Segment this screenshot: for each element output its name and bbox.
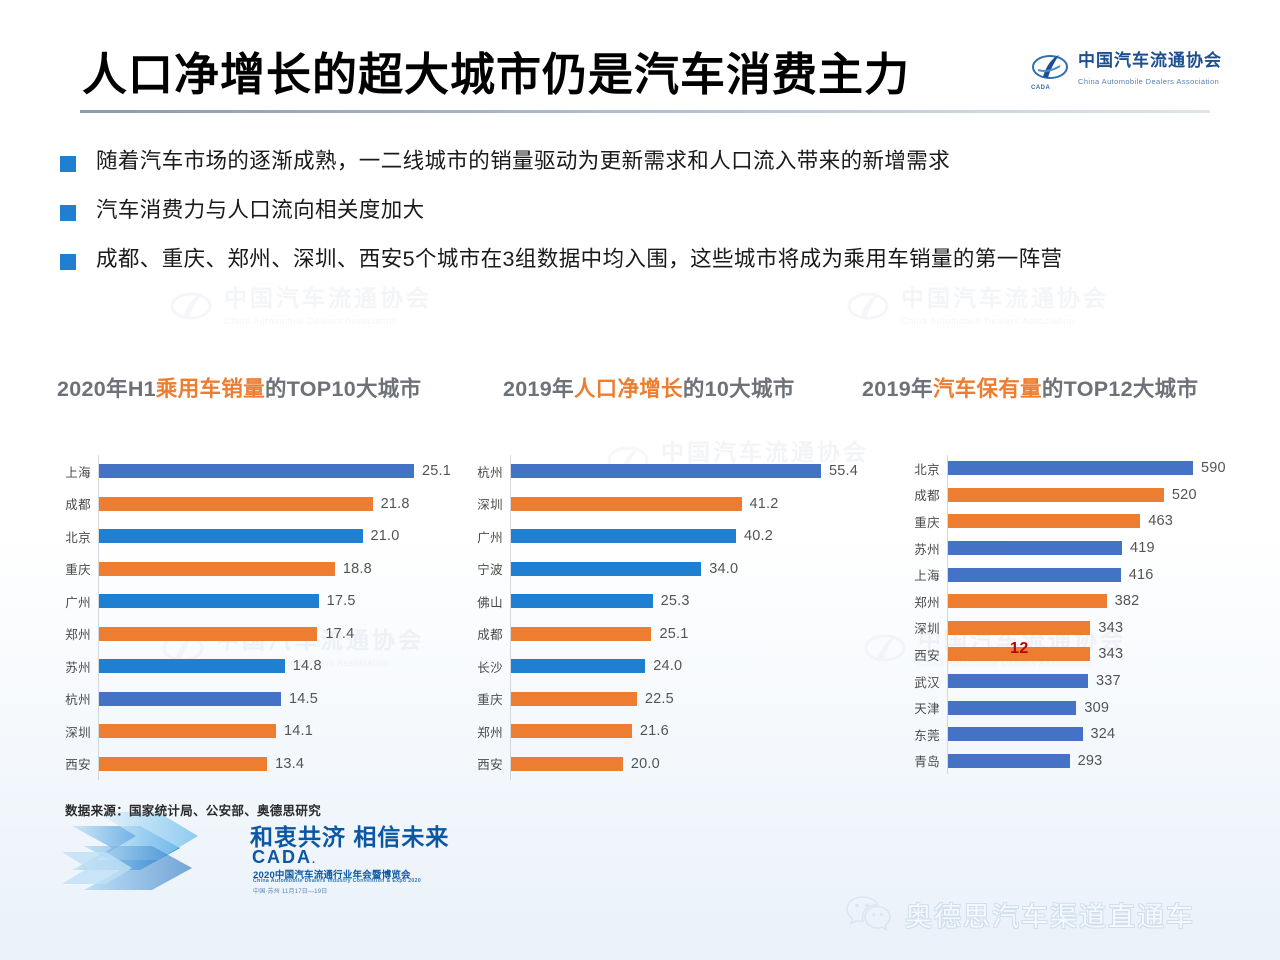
bar-row: 广州40.2 (466, 520, 866, 553)
bar-track: 324 (947, 721, 1245, 748)
bar-chart-passenger-car-sales: 上海25.1成都21.8北京21.0重庆18.8广州17.5郑州17.4苏州14… (50, 455, 480, 785)
bar-value-label: 13.4 (275, 756, 304, 772)
bar-category-label: 郑州 (50, 624, 98, 643)
bar-track: 343 (947, 641, 1245, 668)
bar-value-label: 17.5 (327, 593, 356, 609)
bar-track: 463 (947, 508, 1245, 535)
bar-track: 309 (947, 694, 1245, 721)
bar-row: 东莞324 (905, 721, 1245, 748)
bar-row: 宁波34.0 (466, 553, 866, 586)
bar-category-label: 天津 (905, 698, 947, 717)
bar-track: 343 (947, 615, 1245, 642)
chart-title-highlight: 人口净增长 (574, 377, 683, 401)
bar-value-label: 14.8 (293, 658, 322, 674)
bar-value-label: 337 (1096, 673, 1121, 689)
bar-value-label: 14.5 (289, 691, 318, 707)
bar-value-label: 25.1 (422, 463, 451, 479)
bar-row: 上海416 (905, 561, 1245, 588)
bullet-item-1: 随着汽车市场的逐渐成熟，一二线城市的销量驱动为更新需求和人口流入带来的新增需求 (60, 148, 1240, 175)
bar-row: 深圳343 (905, 615, 1245, 642)
bar-fill (511, 594, 653, 608)
bar-track: 382 (947, 588, 1245, 615)
bar-chart-vehicle-ownership: 北京590成都520重庆463苏州419上海416郑州382深圳343西安343… (905, 455, 1245, 785)
bar-value-label: 14.1 (284, 723, 313, 739)
bar-value-label: 590 (1201, 460, 1226, 476)
bar-row: 广州17.5 (50, 585, 480, 618)
chart-title-pre: 2019年 (503, 377, 574, 401)
bar-row: 天津309 (905, 694, 1245, 721)
bar-fill (99, 594, 319, 608)
bar-row: 重庆18.8 (50, 553, 480, 586)
bar-fill (948, 488, 1164, 502)
chart-title-pre: 2020年H1 (57, 377, 156, 401)
bar-fill (948, 568, 1121, 582)
chart-title-sales: 2020年H1乘用车销量的TOP10大城市 (57, 372, 421, 403)
bar-fill (948, 701, 1076, 715)
bar-track: 25.1 (510, 618, 866, 651)
bar-fill (99, 757, 267, 771)
bar-fill (511, 464, 821, 478)
bar-category-label: 成都 (905, 485, 947, 504)
bar-row: 杭州14.5 (50, 683, 480, 716)
bar-category-label: 重庆 (466, 689, 510, 708)
bar-track: 25.1 (98, 455, 480, 488)
bar-track: 21.6 (510, 715, 866, 748)
bar-row: 深圳14.1 (50, 715, 480, 748)
bar-rows: 杭州55.4深圳41.2广州40.2宁波34.0佛山25.3成都25.1长沙24… (466, 455, 866, 785)
bar-value-label: 40.2 (744, 528, 773, 544)
bar-value-label: 324 (1091, 726, 1116, 742)
title-underline-rule (80, 110, 1210, 113)
bar-fill (511, 692, 637, 706)
bar-category-label: 郑州 (466, 722, 510, 741)
chart-annotation-12: 12 (1010, 640, 1029, 658)
bar-row: 北京590 (905, 455, 1245, 482)
bar-track: 14.8 (98, 650, 480, 683)
bar-row: 成都520 (905, 482, 1245, 509)
bar-fill (99, 692, 281, 706)
bar-track: 416 (947, 561, 1245, 588)
square-bullet-icon (60, 156, 76, 172)
bullet-list: 随着汽车市场的逐渐成熟，一二线城市的销量驱动为更新需求和人口流入带来的新增需求 … (60, 148, 1240, 295)
bar-category-label: 青岛 (905, 751, 947, 770)
bar-category-label: 深圳 (50, 722, 98, 741)
bar-fill (948, 621, 1090, 635)
bar-value-label: 419 (1130, 540, 1155, 556)
bar-category-label: 东莞 (905, 725, 947, 744)
bar-fill (99, 627, 317, 641)
bar-track: 22.5 (510, 683, 866, 716)
bar-value-label: 21.6 (640, 723, 669, 739)
bar-track: 13.4 (98, 748, 480, 781)
bar-row: 青岛293 (905, 748, 1245, 775)
bar-track: 590 (947, 455, 1245, 482)
bar-row: 上海25.1 (50, 455, 480, 488)
bar-category-label: 上海 (905, 565, 947, 584)
bar-track: 25.3 (510, 585, 866, 618)
bar-fill (511, 529, 736, 543)
bar-fill (511, 757, 623, 771)
bar-row: 重庆22.5 (466, 683, 866, 716)
bar-category-label: 广州 (466, 527, 510, 546)
bar-fill (99, 724, 276, 738)
bar-value-label: 309 (1084, 700, 1109, 716)
wechat-account-name: 奥德思汽车渠道直通车 (905, 895, 1195, 934)
bullet-item-2: 汽车消费力与人口流向相关度加大 (60, 197, 1240, 224)
bar-track: 337 (947, 668, 1245, 695)
bar-value-label: 463 (1148, 513, 1173, 529)
bullet-text-1: 随着汽车市场的逐渐成熟，一二线城市的销量驱动为更新需求和人口流入带来的新增需求 (96, 148, 950, 175)
bar-value-label: 22.5 (645, 691, 674, 707)
brand-logo-text: 中国汽车流通协会 China Automobile Dealers Associ… (1078, 52, 1222, 89)
bar-fill (511, 659, 645, 673)
bar-track: 21.8 (98, 488, 480, 521)
chart-title-highlight: 汽车保有量 (933, 377, 1042, 401)
bar-category-label: 广州 (50, 592, 98, 611)
chart-title-post: 的10大城市 (683, 377, 795, 401)
bar-track: 520 (947, 482, 1245, 509)
event-place-date: 中国·苏州 11月17日—19日 (253, 886, 327, 895)
bar-fill (99, 659, 285, 673)
bar-fill (948, 674, 1088, 688)
bar-category-label: 武汉 (905, 672, 947, 691)
bar-value-label: 20.0 (631, 756, 660, 772)
bar-row: 郑州21.6 (466, 715, 866, 748)
chart-title-population: 2019年人口净增长的10大城市 (503, 372, 795, 403)
bar-value-label: 24.0 (653, 658, 682, 674)
bar-track: 14.1 (98, 715, 480, 748)
bullet-text-3: 成都、重庆、郑州、深圳、西安5个城市在3组数据中均入围，这些城市将成为乘用车销量… (96, 246, 1062, 273)
bar-category-label: 上海 (50, 462, 98, 481)
bar-rows: 北京590成都520重庆463苏州419上海416郑州382深圳343西安343… (905, 455, 1245, 785)
bar-track: 17.4 (98, 618, 480, 651)
bar-category-label: 郑州 (905, 592, 947, 611)
chart-title-highlight: 乘用车销量 (156, 377, 265, 401)
bar-value-label: 416 (1129, 567, 1154, 583)
bar-value-label: 21.0 (371, 528, 400, 544)
bar-track: 41.2 (510, 488, 866, 521)
cada-swoosh-icon (862, 630, 908, 670)
bar-chart-population-net-growth: 杭州55.4深圳41.2广州40.2宁波34.0佛山25.3成都25.1长沙24… (466, 455, 866, 785)
bar-fill (948, 594, 1107, 608)
bar-value-label: 343 (1098, 646, 1123, 662)
bar-category-label: 成都 (50, 494, 98, 513)
slide-header: 人口净增长的超大城市仍是汽车消费主力 CADA 中国汽车流通协会 China A… (0, 0, 1280, 125)
bar-row: 郑州382 (905, 588, 1245, 615)
bar-track: 55.4 (510, 455, 866, 488)
event-name-en: China Automobile Dealers Industry Conven… (253, 878, 421, 884)
bar-fill (948, 514, 1140, 528)
bar-row: 长沙24.0 (466, 650, 866, 683)
bar-value-label: 55.4 (829, 463, 858, 479)
bullet-text-2: 汽车消费力与人口流向相关度加大 (96, 197, 425, 224)
bar-value-label: 520 (1172, 487, 1197, 503)
chart-title-ownership: 2019年汽车保有量的TOP12大城市 (862, 372, 1198, 403)
bar-row: 武汉337 (905, 668, 1245, 695)
bar-row: 北京21.0 (50, 520, 480, 553)
bar-row: 苏州419 (905, 535, 1245, 562)
bar-fill (511, 497, 742, 511)
bullet-item-3: 成都、重庆、郑州、深圳、西安5个城市在3组数据中均入围，这些城市将成为乘用车销量… (60, 246, 1240, 273)
bar-value-label: 25.3 (661, 593, 690, 609)
bar-track: 14.5 (98, 683, 480, 716)
bar-track: 20.0 (510, 748, 866, 781)
bar-fill (99, 464, 414, 478)
bar-category-label: 苏州 (905, 539, 947, 558)
bar-fill (948, 727, 1083, 741)
bar-category-label: 西安 (466, 754, 510, 773)
bar-row: 西安13.4 (50, 748, 480, 781)
bar-category-label: 杭州 (466, 462, 510, 481)
slide-canvas: 人口净增长的超大城市仍是汽车消费主力 CADA 中国汽车流通协会 China A… (0, 0, 1280, 960)
bar-row: 西安343 (905, 641, 1245, 668)
bar-track: 419 (947, 535, 1245, 562)
bar-value-label: 343 (1098, 620, 1123, 636)
bar-value-label: 25.1 (659, 626, 688, 642)
chart-title-pre: 2019年 (862, 377, 933, 401)
bar-value-label: 18.8 (343, 561, 372, 577)
bar-row: 杭州55.4 (466, 455, 866, 488)
watermark-name-en: China Automobile Dealers Association (224, 316, 398, 326)
bar-category-label: 苏州 (50, 657, 98, 676)
bar-value-label: 17.4 (325, 626, 354, 642)
square-bullet-icon (60, 205, 76, 221)
bar-value-label: 21.8 (381, 496, 410, 512)
bar-category-label: 杭州 (50, 689, 98, 708)
bar-category-label: 重庆 (905, 512, 947, 531)
cada-brand-logo: CADA 中国汽车流通协会 China Automobile Dealers A… (1030, 50, 1222, 90)
bar-fill (948, 461, 1193, 475)
bar-category-label: 北京 (905, 459, 947, 478)
bar-category-label: 西安 (50, 754, 98, 773)
bar-value-label: 41.2 (750, 496, 779, 512)
bar-category-label: 宁波 (466, 559, 510, 578)
bar-value-label: 293 (1078, 753, 1103, 769)
event-acronym: CADA. (252, 847, 317, 868)
bar-category-label: 深圳 (905, 618, 947, 637)
bar-category-label: 成都 (466, 624, 510, 643)
bar-row: 深圳41.2 (466, 488, 866, 521)
bar-category-label: 重庆 (50, 559, 98, 578)
bar-category-label: 深圳 (466, 494, 510, 513)
brand-name-cn: 中国汽车流通协会 (1078, 51, 1222, 70)
bar-row: 重庆463 (905, 508, 1245, 535)
bar-value-label: 382 (1115, 593, 1140, 609)
bar-category-label: 西安 (905, 645, 947, 664)
bar-category-label: 佛山 (466, 592, 510, 611)
wechat-icon (845, 893, 891, 936)
bar-row: 成都21.8 (50, 488, 480, 521)
bar-track: 17.5 (98, 585, 480, 618)
data-source-note: 数据来源：国家统计局、公安部、奥德思研究 (65, 800, 321, 819)
cada-swoosh-icon: CADA (1030, 50, 1070, 90)
bar-fill (948, 754, 1070, 768)
chart-title-post: 的TOP10大城市 (265, 377, 421, 401)
bar-row: 苏州14.8 (50, 650, 480, 683)
bar-value-label: 34.0 (709, 561, 738, 577)
bar-track: 293 (947, 748, 1245, 775)
bar-category-label: 北京 (50, 527, 98, 546)
cada-mark-text: CADA (1031, 85, 1050, 91)
bar-fill (511, 724, 632, 738)
bar-fill (99, 497, 373, 511)
bar-track: 40.2 (510, 520, 866, 553)
bar-fill (99, 529, 363, 543)
bar-fill (511, 627, 651, 641)
arrow-graphic-icon (62, 806, 262, 903)
bar-row: 郑州17.4 (50, 618, 480, 651)
wechat-account-banner: 奥德思汽车渠道直通车 (845, 893, 1195, 936)
bar-track: 24.0 (510, 650, 866, 683)
chart-title-post: 的TOP12大城市 (1042, 377, 1198, 401)
bar-track: 34.0 (510, 553, 866, 586)
bar-track: 21.0 (98, 520, 480, 553)
bar-track: 18.8 (98, 553, 480, 586)
square-bullet-icon (60, 254, 76, 270)
watermark-name-en: China Automobile Dealers Association (901, 316, 1075, 326)
bar-row: 佛山25.3 (466, 585, 866, 618)
bar-fill (511, 562, 701, 576)
bar-row: 成都25.1 (466, 618, 866, 651)
brand-name-en: China Automobile Dealers Association (1078, 77, 1219, 86)
page-title: 人口净增长的超大城市仍是汽车消费主力 (82, 38, 910, 103)
bar-category-label: 长沙 (466, 657, 510, 676)
bar-fill (99, 562, 335, 576)
bar-fill (948, 541, 1122, 555)
bar-row: 西安20.0 (466, 748, 866, 781)
bar-rows: 上海25.1成都21.8北京21.0重庆18.8广州17.5郑州17.4苏州14… (50, 455, 480, 785)
